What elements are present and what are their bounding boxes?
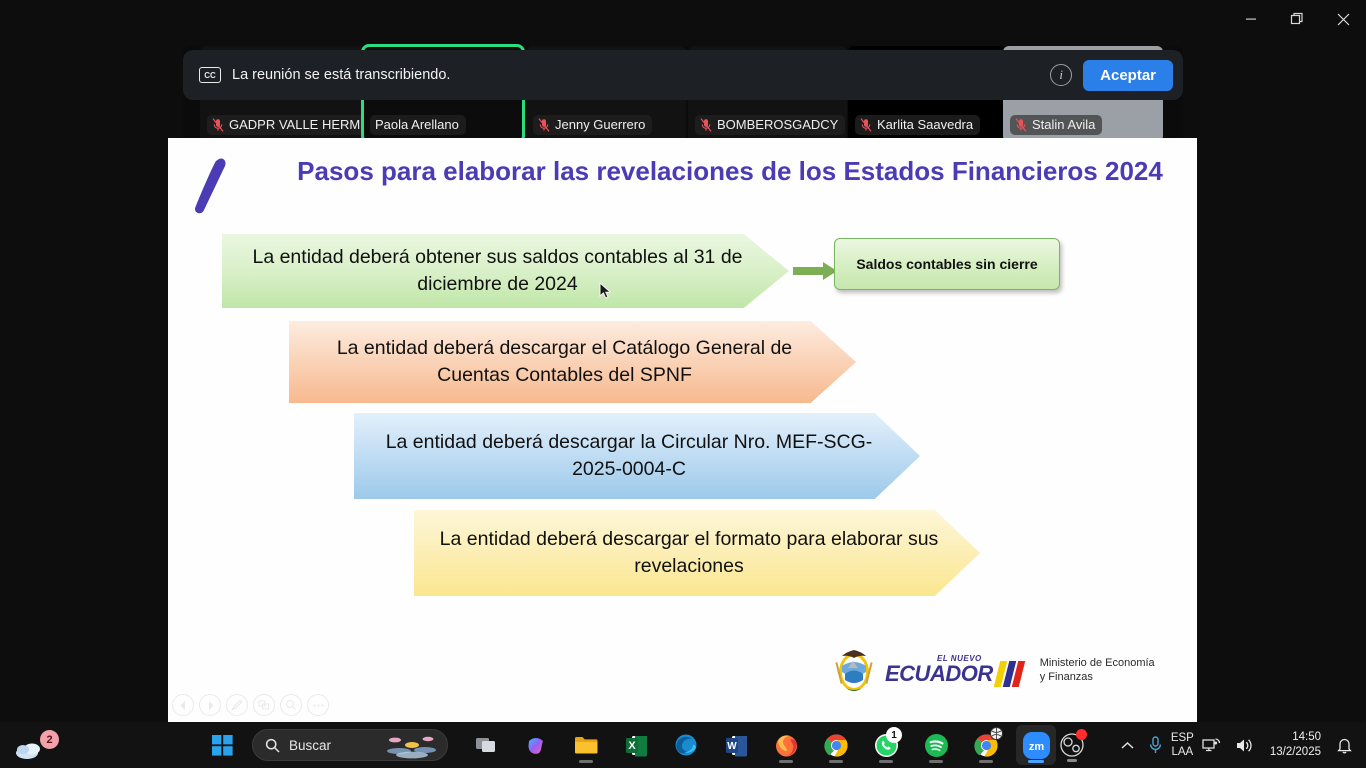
- taskbar-edge[interactable]: [666, 725, 706, 765]
- slide-title: Pasos para elaborar las revelaciones de …: [280, 154, 1180, 189]
- start-button[interactable]: [202, 725, 242, 765]
- participant-name: GADPR VALLE HERM…: [229, 117, 365, 132]
- ministry-line-2: y Finanzas: [1040, 670, 1155, 684]
- more-options-ellipsis-icon[interactable]: [307, 694, 329, 716]
- step-text-yellow: La entidad deberá descargar el formato p…: [438, 526, 940, 580]
- svg-text:zm: zm: [1028, 741, 1044, 753]
- close-button[interactable]: [1320, 0, 1366, 38]
- microphone-icon[interactable]: [1142, 725, 1169, 765]
- next-slide-button[interactable]: [199, 694, 221, 716]
- participant-name-badge: Stalin Avila: [1010, 115, 1102, 135]
- ecuador-flag-icon: [993, 661, 1024, 687]
- clock[interactable]: 14:50 13/2/2025: [1262, 730, 1329, 760]
- step-text-orange: La entidad deberá descargar el Catálogo …: [313, 335, 816, 389]
- participant-name-badge: Paola Arellano: [370, 115, 466, 135]
- language-indicator[interactable]: ESP LAA: [1171, 731, 1194, 759]
- window-controls: [1228, 0, 1366, 38]
- language-line-2: LAA: [1171, 745, 1193, 759]
- arrow-right-icon: [793, 262, 837, 280]
- transcription-banner: CC La reunión se está transcribiendo. i …: [183, 50, 1183, 100]
- running-indicator: [779, 760, 793, 763]
- accept-button[interactable]: Aceptar: [1083, 60, 1173, 91]
- pen-icon[interactable]: [226, 694, 248, 716]
- step-chevron-blue: La entidad deberá descargar la Circular …: [354, 413, 920, 499]
- callout-text: Saldos contables sin cierre: [856, 256, 1037, 272]
- running-indicator: [929, 760, 943, 763]
- participant-name: Karlita Saavedra: [877, 117, 973, 132]
- taskbar-word[interactable]: W: [716, 725, 756, 765]
- search-placeholder: Buscar: [289, 738, 331, 753]
- weather-widget[interactable]: 2: [14, 730, 60, 762]
- taskbar-chrome-app[interactable]: [966, 725, 1006, 765]
- taskbar-badge: 1: [886, 727, 902, 743]
- info-icon[interactable]: i: [1050, 64, 1072, 86]
- participant-name-badge: Karlita Saavedra: [855, 115, 980, 135]
- network-icon[interactable]: [1196, 725, 1227, 765]
- slideshow-toolbar: [172, 694, 329, 716]
- ecuador-coat-of-arms-icon: [831, 646, 877, 694]
- taskbar-spotify[interactable]: [916, 725, 956, 765]
- closed-caption-icon: CC: [199, 67, 221, 83]
- taskbar-file-explorer[interactable]: [566, 725, 606, 765]
- step-text-green: La entidad deberá obtener sus saldos con…: [246, 244, 749, 298]
- ecuador-ministry-logo: EL NUEVO ECUADOR Ministerio de Economía …: [831, 646, 1155, 694]
- obs-recording-dot: [1076, 729, 1087, 740]
- taskbar-copilot[interactable]: [516, 725, 556, 765]
- running-indicator: [979, 760, 993, 763]
- language-line-1: ESP: [1171, 731, 1194, 745]
- participant-name: Stalin Avila: [1032, 117, 1095, 132]
- running-indicator: [1028, 760, 1044, 763]
- weather-badge: 2: [40, 730, 59, 749]
- chevron-up-icon[interactable]: [1115, 725, 1140, 765]
- decorative-slash-icon: [192, 156, 228, 216]
- taskbar-chrome[interactable]: [816, 725, 856, 765]
- volume-icon[interactable]: [1229, 725, 1260, 765]
- step-text-blue: La entidad deberá descargar la Circular …: [378, 429, 880, 483]
- ecuador-wordmark: EL NUEVO ECUADOR: [885, 654, 1022, 687]
- step-chevron-green: La entidad deberá obtener sus saldos con…: [222, 234, 789, 308]
- search-illustration: [383, 732, 441, 760]
- taskbar-apps: XW1zm: [466, 725, 1056, 765]
- mouse-cursor-icon: [599, 282, 613, 300]
- participant-name-badge: BOMBEROSGADCY: [695, 115, 845, 135]
- bell-icon[interactable]: [1331, 725, 1358, 765]
- restore-button[interactable]: [1274, 0, 1320, 38]
- previous-slide-button[interactable]: [172, 694, 194, 716]
- search-box[interactable]: Buscar: [252, 729, 448, 761]
- taskbar-excel[interactable]: X: [616, 725, 656, 765]
- running-indicator: [879, 760, 893, 763]
- all-slides-grid-icon[interactable]: [253, 694, 275, 716]
- participant-name: Jenny Guerrero: [555, 117, 645, 132]
- system-tray: ESP LAA 14:50 13/2/2025: [1053, 722, 1366, 768]
- participant-name: BOMBEROSGADCY: [717, 117, 838, 132]
- magnifier-icon[interactable]: [280, 694, 302, 716]
- clock-time: 14:50: [1292, 730, 1321, 745]
- obs-icon[interactable]: [1053, 725, 1091, 765]
- participant-name-badge: GADPR VALLE HERM…: [207, 115, 365, 135]
- ministry-name: Ministerio de Economía y Finanzas: [1040, 656, 1155, 684]
- step-chevron-yellow: La entidad deberá descargar el formato p…: [414, 510, 980, 596]
- running-indicator: [829, 760, 843, 763]
- svg-text:W: W: [727, 741, 737, 752]
- ministry-line-1: Ministerio de Economía: [1040, 656, 1155, 670]
- minimize-button[interactable]: [1228, 0, 1274, 38]
- presentation-slide[interactable]: Pasos para elaborar las revelaciones de …: [168, 138, 1197, 722]
- participant-name-badge: Jenny Guerrero: [533, 115, 652, 135]
- logo-wordmark: ECUADOR: [885, 661, 993, 687]
- taskbar-zoom[interactable]: zm: [1016, 725, 1056, 765]
- participant-name: Paola Arellano: [375, 117, 459, 132]
- taskbar-center: Buscar XW1zm: [202, 722, 1056, 768]
- clock-date: 13/2/2025: [1270, 745, 1321, 760]
- step-chevron-orange: La entidad deberá descargar el Catálogo …: [289, 321, 856, 403]
- running-indicator: [579, 760, 593, 763]
- transcription-message: La reunión se está transcribiendo.: [232, 67, 1050, 83]
- taskbar-task-view[interactable]: [466, 725, 506, 765]
- desktop-root: GADPR VALLE HERM…Paola ArellanoJenny Gue…: [0, 0, 1366, 768]
- taskbar-whatsapp[interactable]: 1: [866, 725, 906, 765]
- svg-text:X: X: [628, 740, 636, 752]
- search-icon: [265, 738, 280, 753]
- taskbar-firefox[interactable]: [766, 725, 806, 765]
- callout-box-saldos: Saldos contables sin cierre: [834, 238, 1060, 290]
